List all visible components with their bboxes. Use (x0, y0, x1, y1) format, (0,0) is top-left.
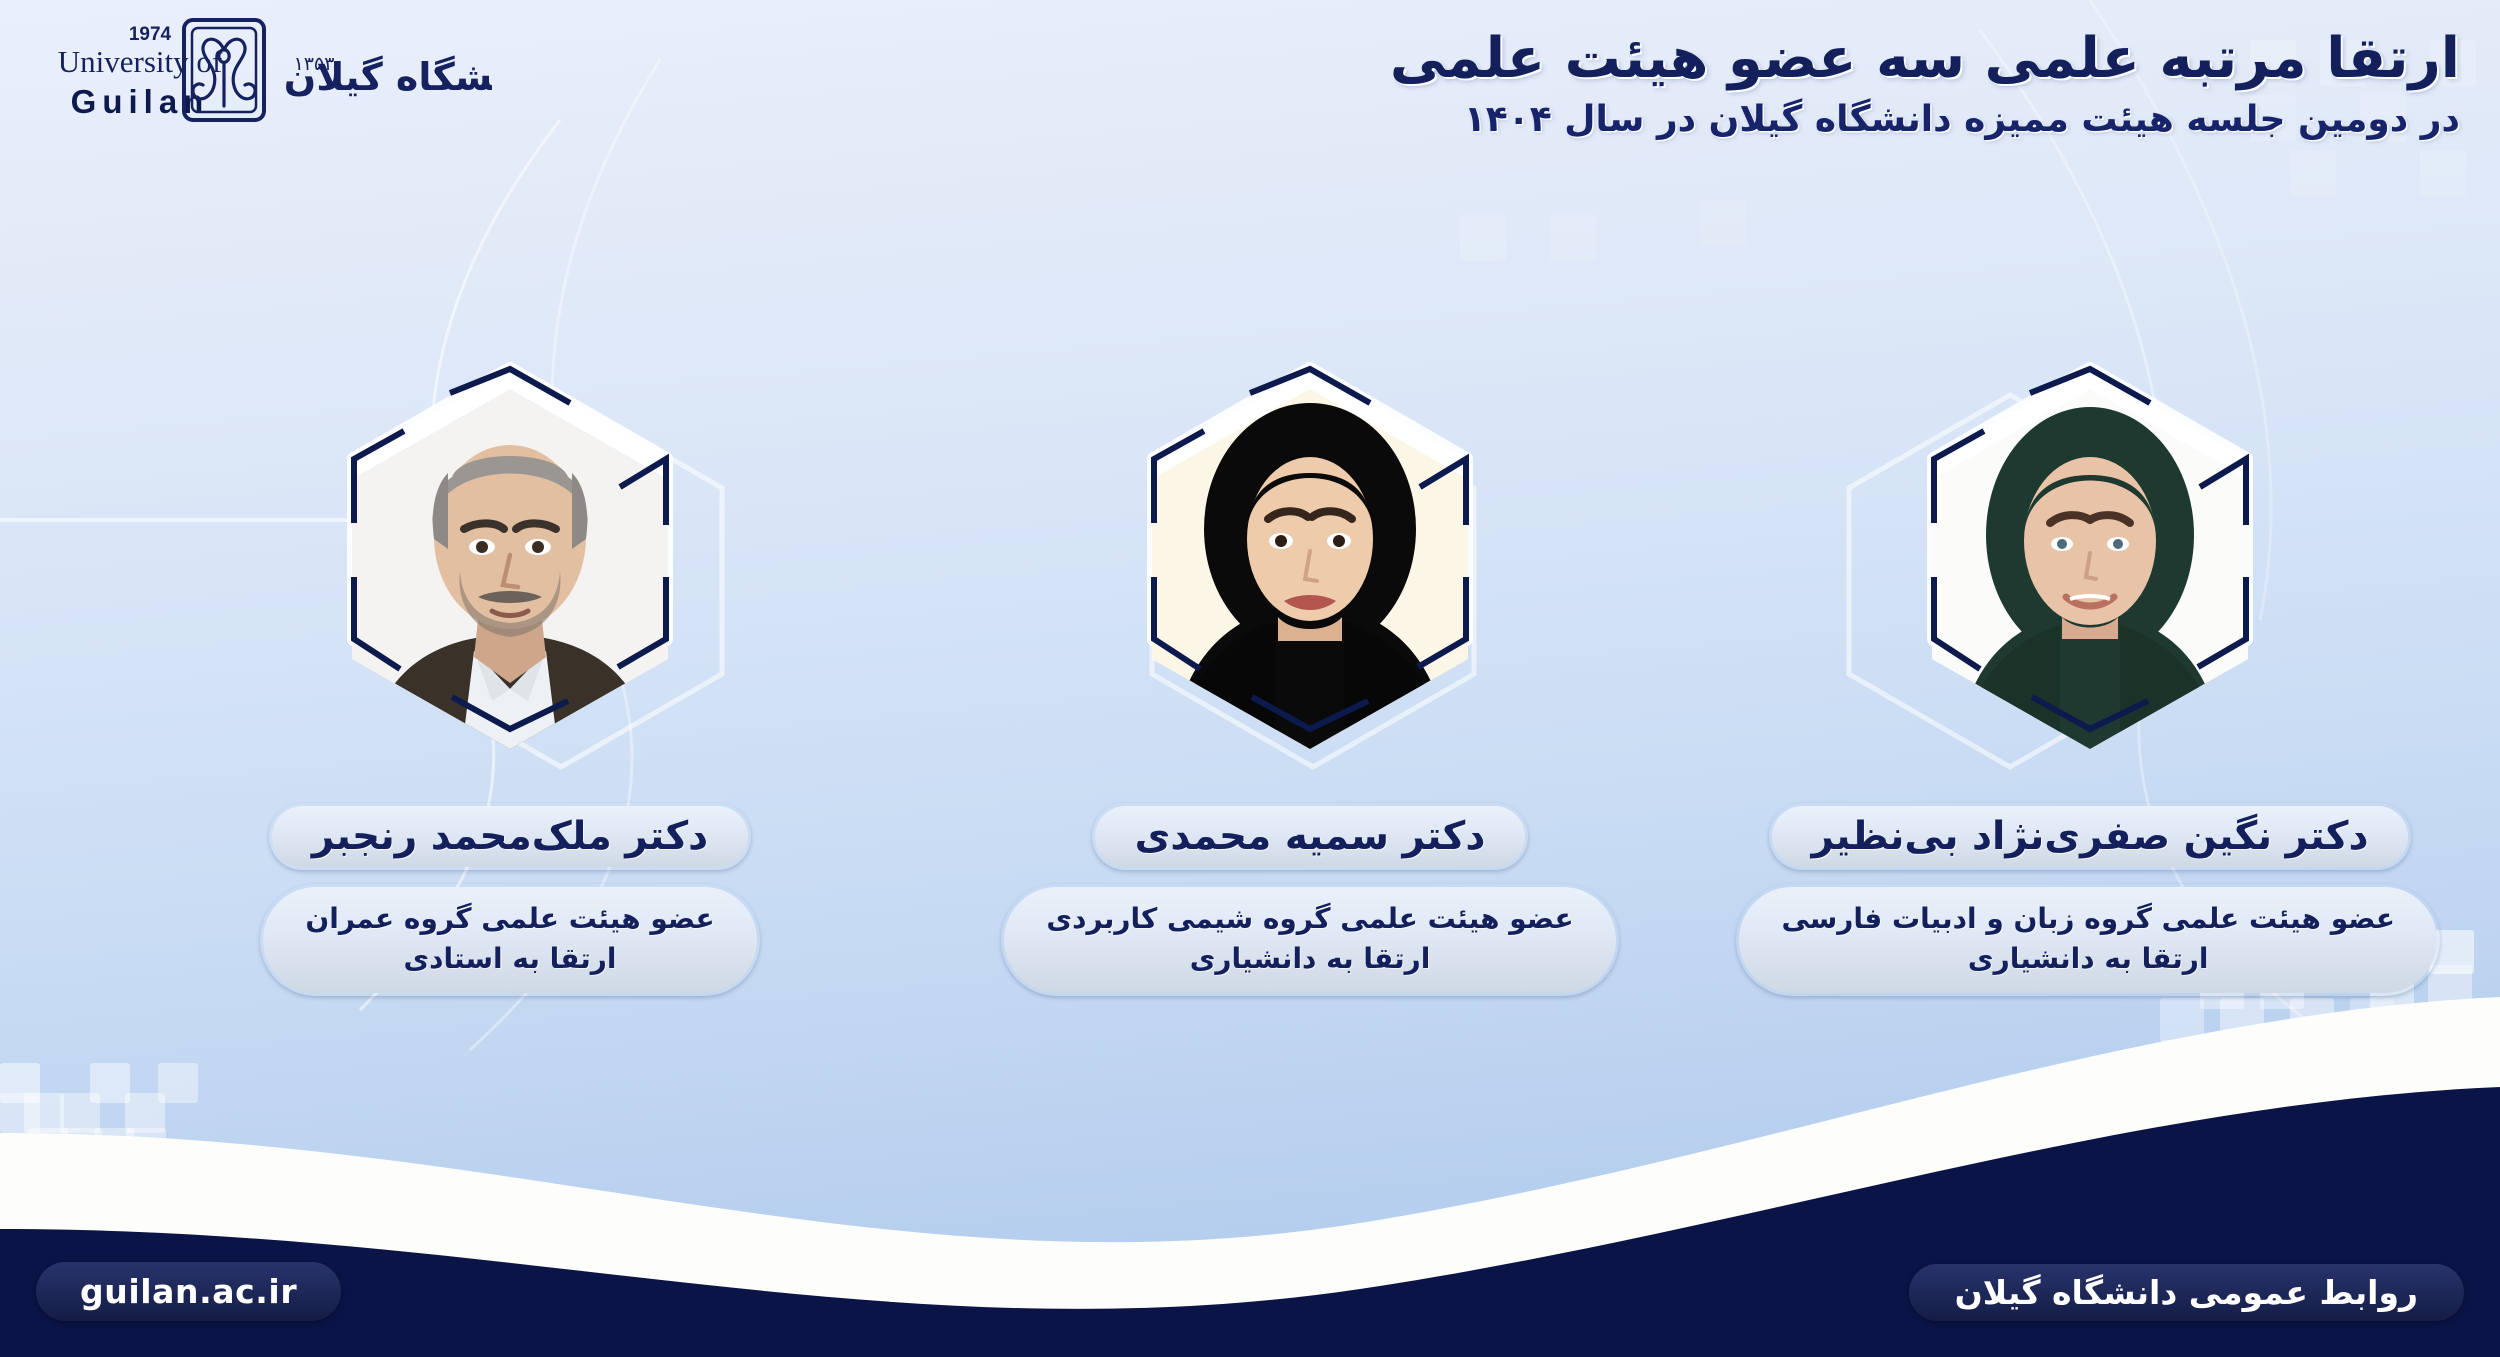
page-subtitle: در دومین جلسه هیئت ممیزه دانشگاه گیلان د… (1140, 98, 2460, 141)
person-name: دکتر سمیه محمدی (1135, 814, 1486, 859)
logo-name-fa: دانشگاه گیلان (284, 55, 492, 99)
person-name-badge: دکتر نگین صفری‌نژاد بی‌نظیر (1769, 803, 2412, 870)
heading-block: ارتقا مرتبه علمی سه عضو هیئت علمی در دوم… (1140, 26, 2460, 141)
person-card: دکتر سمیه محمدی عضو هیئت علمی گروه شیمی … (960, 355, 1660, 996)
portrait-frame (1880, 355, 2300, 785)
guilan-logo-mark: 1974 University of Guilan ۱۳۵۳ دانشگاه گ… (22, 6, 492, 126)
university-logo: 1974 University of Guilan ۱۳۵۳ دانشگاه گ… (22, 6, 492, 126)
page-title: ارتقا مرتبه علمی سه عضو هیئت علمی (1140, 26, 2460, 92)
person-role-line1: عضو هیئت علمی گروه عمران (305, 899, 714, 939)
logo-guilan: Guilan (71, 83, 210, 120)
hex-frame-accent (300, 355, 720, 785)
person-name-badge: دکتر ملک‌محمد رنجبر (269, 803, 751, 870)
poster-canvas: 1974 University of Guilan ۱۳۵۳ دانشگاه گ… (0, 0, 2500, 1357)
portrait-frame (1100, 355, 1520, 785)
website-url: guilan.ac.ir (80, 1272, 297, 1311)
person-name-badge: دکتر سمیه محمدی (1092, 803, 1529, 870)
person-name: دکتر نگین صفری‌نژاد بی‌نظیر (1812, 814, 2369, 859)
public-relations-label: روابط عمومی دانشگاه گیلان (1955, 1273, 2418, 1312)
website-pill[interactable]: guilan.ac.ir (36, 1262, 341, 1321)
logo-university-of: University of (58, 44, 223, 79)
hex-frame-accent (1100, 355, 1520, 785)
public-relations-pill: روابط عمومی دانشگاه گیلان (1909, 1264, 2464, 1321)
person-role-line1: عضو هیئت علمی گروه زبان و ادبیات فارسی (1781, 899, 2395, 939)
person-card: دکتر ملک‌محمد رنجبر عضو هیئت علمی گروه ع… (160, 355, 860, 996)
portrait-frame (300, 355, 720, 785)
logo-year-en: 1974 (129, 24, 172, 45)
person-card: دکتر نگین صفری‌نژاد بی‌نظیر عضو هیئت علم… (1740, 355, 2440, 996)
person-name: دکتر ملک‌محمد رنجبر (312, 814, 708, 859)
person-role-line1: عضو هیئت علمی گروه شیمی کاربردی (1046, 899, 1573, 939)
people-row: دکتر نگین صفری‌نژاد بی‌نظیر عضو هیئت علم… (0, 355, 2500, 975)
hex-frame-accent (1880, 355, 2300, 785)
